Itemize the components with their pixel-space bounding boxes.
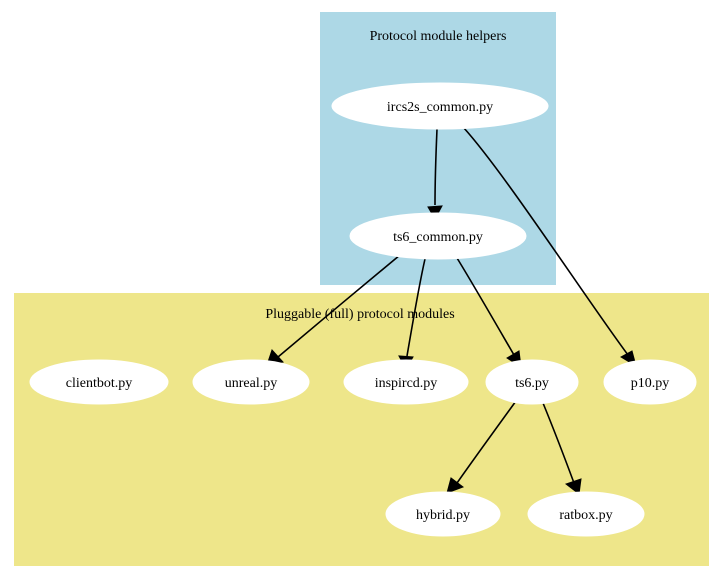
node-ircs2s_common[interactable]: ircs2s_common.py xyxy=(332,83,548,129)
node-ratbox-label: ratbox.py xyxy=(559,508,612,523)
node-unreal-label: unreal.py xyxy=(225,376,277,391)
node-hybrid-label: hybrid.py xyxy=(416,508,470,523)
node-inspircd[interactable]: inspircd.py xyxy=(344,360,468,404)
node-unreal[interactable]: unreal.py xyxy=(193,360,309,404)
cluster-pluggable-protocol-modules-label: Pluggable (full) protocol modules xyxy=(265,307,454,322)
node-ts6_common-label: ts6_common.py xyxy=(393,230,483,245)
node-p10[interactable]: p10.py xyxy=(604,360,696,404)
node-hybrid[interactable]: hybrid.py xyxy=(386,492,500,536)
node-ircs2s_common-label: ircs2s_common.py xyxy=(387,100,493,115)
node-inspircd-label: inspircd.py xyxy=(375,376,438,391)
diagram-canvas: Protocol module helpers Pluggable (full)… xyxy=(0,0,723,580)
cluster-protocol-module-helpers-label: Protocol module helpers xyxy=(370,29,507,44)
node-clientbot-label: clientbot.py xyxy=(66,376,133,391)
node-ratbox[interactable]: ratbox.py xyxy=(528,492,644,536)
node-ts6[interactable]: ts6.py xyxy=(486,360,578,404)
node-ts6_common[interactable]: ts6_common.py xyxy=(350,213,526,259)
node-p10-label: p10.py xyxy=(631,376,670,391)
node-clientbot[interactable]: clientbot.py xyxy=(30,360,168,404)
protocol-module-graph: Protocol module helpers Pluggable (full)… xyxy=(0,0,723,580)
node-ts6-label: ts6.py xyxy=(515,376,549,391)
